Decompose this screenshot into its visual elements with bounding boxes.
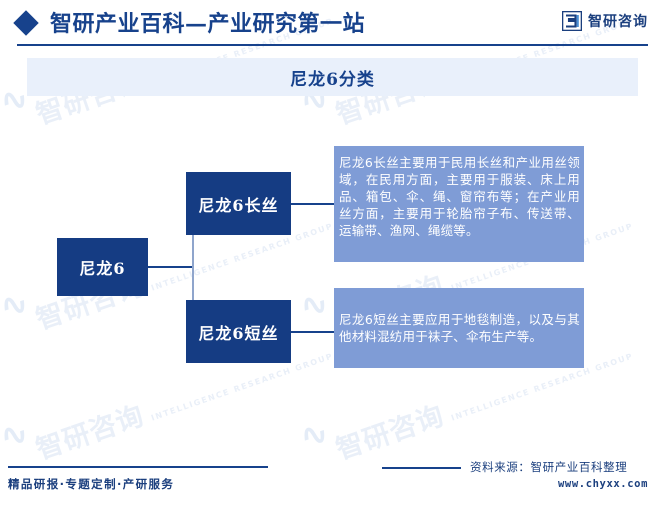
zhiyan-logo-icon bbox=[562, 11, 582, 31]
page-canvas: 智研咨询 INTELLIGENCE RESEARCH GROUP 智研咨询 IN… bbox=[0, 0, 665, 505]
footer-source: 资料来源：智研产业百科整理 bbox=[470, 459, 627, 475]
tree-diagram: 尼龙6 尼龙6长丝 尼龙6短丝 尼龙6长丝主要用于民用长丝和产业用丝领域，在民用… bbox=[0, 0, 665, 505]
footer-divider-left bbox=[8, 466, 268, 468]
node-label: 尼龙6长丝 bbox=[198, 192, 278, 216]
node-label: 尼龙6短丝 bbox=[198, 320, 278, 344]
node-nylon6-staple[interactable]: 尼龙6短丝 bbox=[186, 300, 291, 363]
connector-top-to-desc bbox=[291, 203, 336, 205]
footer-url[interactable]: www.chyxx.com bbox=[558, 478, 648, 490]
brand-logo: 智研咨询 bbox=[562, 11, 648, 31]
footer-tagline: 精品研报·专题定制·产研服务 bbox=[8, 476, 174, 492]
node-root[interactable]: 尼龙6 bbox=[57, 238, 148, 296]
description-text: 尼龙6短丝主要应用于地毯制造，以及与其他材料混纺用于袜子、伞布生产等。 bbox=[339, 311, 580, 345]
brand-name: 智研咨询 bbox=[588, 11, 648, 31]
footer-divider-right bbox=[382, 467, 461, 469]
description-nylon6-staple: 尼龙6短丝主要应用于地毯制造，以及与其他材料混纺用于袜子、伞布生产等。 bbox=[334, 288, 584, 368]
node-nylon6-filament[interactable]: 尼龙6长丝 bbox=[186, 172, 291, 235]
description-nylon6-filament: 尼龙6长丝主要用于民用长丝和产业用丝领域，在民用方面，主要用于服装、床上用品、箱… bbox=[334, 146, 584, 262]
connector-bottom-to-desc bbox=[291, 331, 336, 333]
page-header: 智研产业百科—产业研究第一站 智研咨询 bbox=[0, 0, 665, 47]
description-text: 尼龙6长丝主要用于民用长丝和产业用丝领域，在民用方面，主要用于服装、床上用品、箱… bbox=[339, 155, 580, 238]
connector-root-stub bbox=[148, 266, 193, 268]
header-divider bbox=[17, 44, 648, 46]
diamond-icon bbox=[13, 10, 38, 35]
page-title: 智研产业百科—产业研究第一站 bbox=[50, 6, 365, 38]
node-root-label: 尼龙6 bbox=[79, 255, 125, 279]
